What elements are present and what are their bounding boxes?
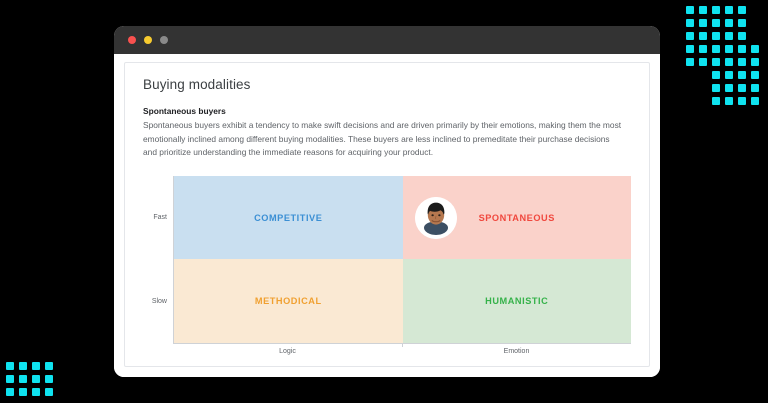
decorative-dot [751,71,759,79]
content-card: Buying modalities Spontaneous buyers Spo… [124,62,650,367]
decorative-dot [6,362,14,370]
decorative-dot [738,97,746,105]
decorative-dot [6,375,14,383]
decorative-dot [738,58,746,66]
decorative-dot [725,45,733,53]
decorative-dots-bottom-left [6,362,53,396]
decorative-dot [686,6,694,14]
close-window-button[interactable] [128,36,136,44]
y-axis-labels: Fast Slow [143,176,173,344]
x-axis-labels: Logic Emotion [173,344,631,358]
quadrant-label-methodical: METHODICAL [255,296,322,306]
quadrant-humanistic[interactable]: HUMANISTIC [403,259,632,343]
y-axis-tick-fast: Fast [143,176,173,260]
decorative-dot [738,45,746,53]
decorative-dot [699,45,707,53]
decorative-dot [699,19,707,27]
decorative-dot [6,388,14,396]
decorative-dot [738,84,746,92]
section-subtitle: Spontaneous buyers [143,106,631,116]
x-axis-center-tick [402,344,403,347]
decorative-dot [686,45,694,53]
decorative-dot [751,84,759,92]
decorative-dot [712,84,720,92]
decorative-dot [751,32,759,40]
decorative-dot [725,84,733,92]
quadrant-label-competitive: COMPETITIVE [254,213,322,223]
decorative-dot [751,45,759,53]
decorative-dot [45,362,53,370]
decorative-dot [712,71,720,79]
browser-viewport: Buying modalities Spontaneous buyers Spo… [114,54,660,377]
decorative-dot [699,6,707,14]
x-axis-tick-emotion: Emotion [402,344,631,358]
decorative-dot [45,375,53,383]
decorative-dot [686,19,694,27]
buying-modalities-quadrant-chart: Fast Slow COMPETITIVE [143,176,631,358]
decorative-dot [699,97,707,105]
decorative-dot [686,58,694,66]
y-axis-tick-slow: Slow [143,260,173,344]
decorative-dot [699,71,707,79]
decorative-dot [738,71,746,79]
section-body-text: Spontaneous buyers exhibit a tendency to… [143,119,625,160]
browser-window: Buying modalities Spontaneous buyers Spo… [114,26,660,377]
decorative-dot [725,97,733,105]
decorative-dot [699,32,707,40]
minimize-window-button[interactable] [144,36,152,44]
decorative-dot [686,97,694,105]
decorative-dot [751,97,759,105]
decorative-dot [725,19,733,27]
plot-area: COMPETITIVE [173,176,631,344]
decorative-dot [686,84,694,92]
decorative-dot [738,32,746,40]
maximize-window-button[interactable] [160,36,168,44]
decorative-dot [712,32,720,40]
decorative-dot [712,58,720,66]
decorative-dot [725,71,733,79]
decorative-dots-top-right [686,6,759,105]
page-root: Buying modalities Spontaneous buyers Spo… [0,0,768,403]
decorative-dot [738,6,746,14]
decorative-dot [751,19,759,27]
decorative-dot [725,32,733,40]
decorative-dot [712,45,720,53]
decorative-dot [751,6,759,14]
decorative-dot [712,97,720,105]
decorative-dot [699,58,707,66]
decorative-dot [32,362,40,370]
decorative-dot [751,58,759,66]
decorative-dot [725,6,733,14]
decorative-dot [686,71,694,79]
decorative-dot [19,388,27,396]
decorative-dot [712,6,720,14]
decorative-dot [19,362,27,370]
decorative-dot [686,32,694,40]
x-axis-tick-logic: Logic [173,344,402,358]
decorative-dot [725,58,733,66]
decorative-dot [32,388,40,396]
decorative-dot [19,375,27,383]
quadrant-spontaneous[interactable]: SPONTANEOUS [403,176,632,260]
decorative-dot [32,375,40,383]
quadrant-label-spontaneous: SPONTANEOUS [479,213,555,223]
decorative-dot [738,19,746,27]
decorative-dot [699,84,707,92]
decorative-dot [712,19,720,27]
page-title: Buying modalities [143,77,631,92]
decorative-dot [45,388,53,396]
browser-title-bar [114,26,660,54]
quadrant-competitive[interactable]: COMPETITIVE [174,176,403,260]
avatar [415,197,457,239]
quadrant-methodical[interactable]: METHODICAL [174,259,403,343]
quadrant-label-humanistic: HUMANISTIC [485,296,548,306]
